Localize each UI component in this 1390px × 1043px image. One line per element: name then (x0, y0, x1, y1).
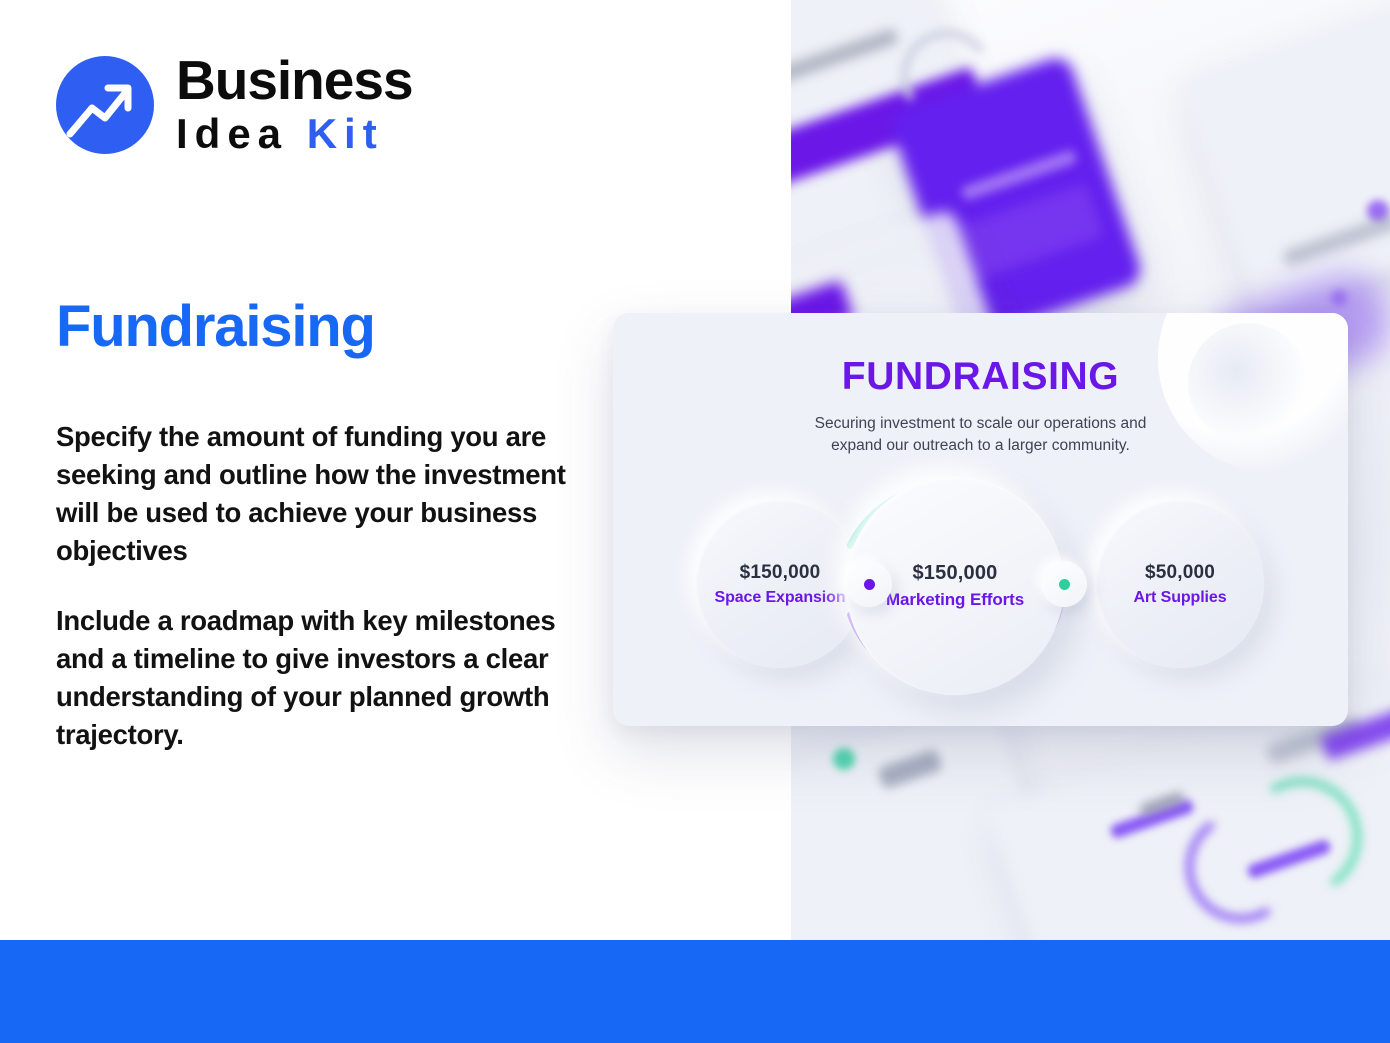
trend-arrow-circle-icon (56, 56, 154, 154)
funding-allocation-diagram: $150,000 Space Expansion $150,000 Market… (613, 478, 1348, 708)
card-subtitle: Securing investment to scale our operati… (613, 413, 1348, 457)
background-slide-5-green-dot (833, 748, 855, 770)
right-connector-dot (1059, 579, 1070, 590)
brand-name-line1: Business (176, 52, 413, 108)
allocation-circle-space-expansion[interactable]: $150,000 Space Expansion (696, 500, 864, 668)
card-title: FUNDRAISING (613, 355, 1348, 399)
body-paragraph-2: Include a roadmap with key milestones an… (56, 602, 566, 754)
allocation-category: Marketing Efforts (886, 590, 1024, 610)
allocation-amount: $150,000 (740, 562, 821, 584)
fundraising-preview-card[interactable]: FUNDRAISING Securing investment to scale… (613, 313, 1348, 726)
slide-canvas: Business Idea Kit Fundraising Specify th… (0, 0, 1390, 1043)
brand-name-idea: Idea (176, 110, 307, 157)
footer-bar (0, 940, 1390, 1043)
allocation-category: Space Expansion (715, 589, 846, 607)
brand-name-line2: Idea Kit (176, 110, 413, 157)
background-slide-3 (1177, 0, 1390, 316)
card-subtitle-line2: expand our outreach to a larger communit… (613, 435, 1348, 457)
right-connector-knob (1041, 561, 1087, 607)
left-connector-dot (864, 579, 875, 590)
body-paragraph-1: Specify the amount of funding you are se… (56, 418, 566, 570)
allocation-circle-art-supplies[interactable]: $50,000 Art Supplies (1096, 500, 1264, 668)
card-subtitle-line1: Securing investment to scale our operati… (613, 413, 1348, 435)
body-copy: Specify the amount of funding you are se… (56, 418, 566, 754)
allocation-amount: $150,000 (912, 562, 997, 585)
allocation-amount: $50,000 (1145, 562, 1215, 584)
left-connector-knob (846, 561, 892, 607)
brand-logo: Business Idea Kit (56, 52, 413, 157)
allocation-category: Art Supplies (1133, 589, 1226, 607)
page-title: Fundraising (56, 297, 375, 358)
brand-name-kit: Kit (307, 110, 384, 157)
